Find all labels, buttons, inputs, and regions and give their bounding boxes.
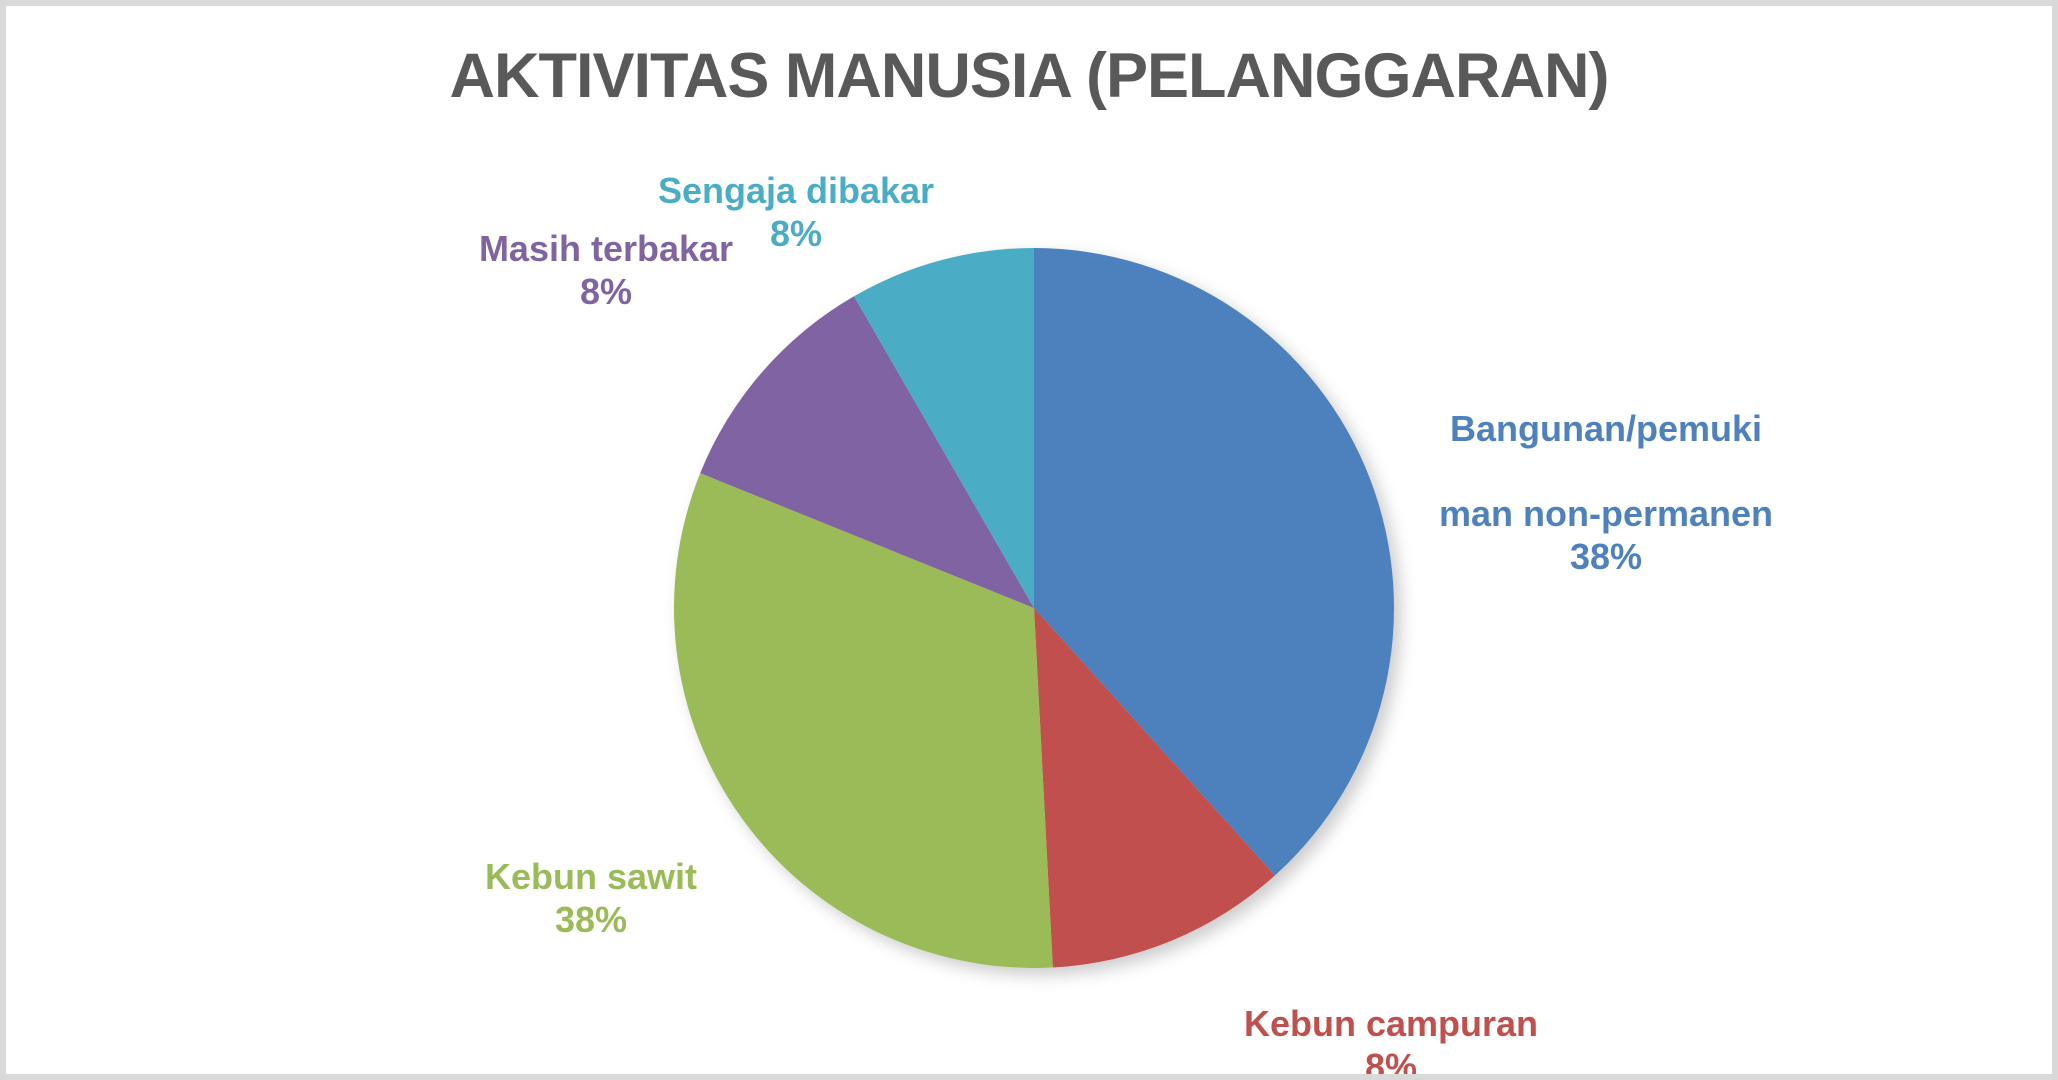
pie-label-sengaja-dibakar-value: 8% <box>626 213 966 255</box>
pie-label-sengaja-dibakar: Sengaja dibakar 8% <box>626 128 966 298</box>
pie-label-sengaja-dibakar-text: Sengaja dibakar <box>658 170 934 211</box>
pie-label-bangunan-pemukiman-non-permanen: Bangunan/pemuki man non-permanen 38% <box>1406 366 1806 621</box>
pie-label-kebun-campuran-value: 8% <box>1211 1046 1571 1080</box>
pie-label-kebun-campuran-text: Kebun campuran <box>1244 1003 1538 1044</box>
pie-label-kebun-sawit-text: Kebun sawit <box>485 856 697 897</box>
pie-label-kebun-sawit-value: 38% <box>426 899 756 941</box>
pie-label-kebun-sawit: Kebun sawit 38% <box>426 814 756 984</box>
pie-label-kebun-campuran: Kebun campuran 8% <box>1211 961 1571 1080</box>
pie-label-bangunan-text: Bangunan/pemuki <box>1450 408 1762 449</box>
pie-label-bangunan-text-2: man non-permanen <box>1439 493 1773 534</box>
pie-label-bangunan-value: 38% <box>1406 536 1806 578</box>
chart-container: AKTIVITAS MANUSIA (PELANGGARAN) Bangunan… <box>0 0 2058 1080</box>
